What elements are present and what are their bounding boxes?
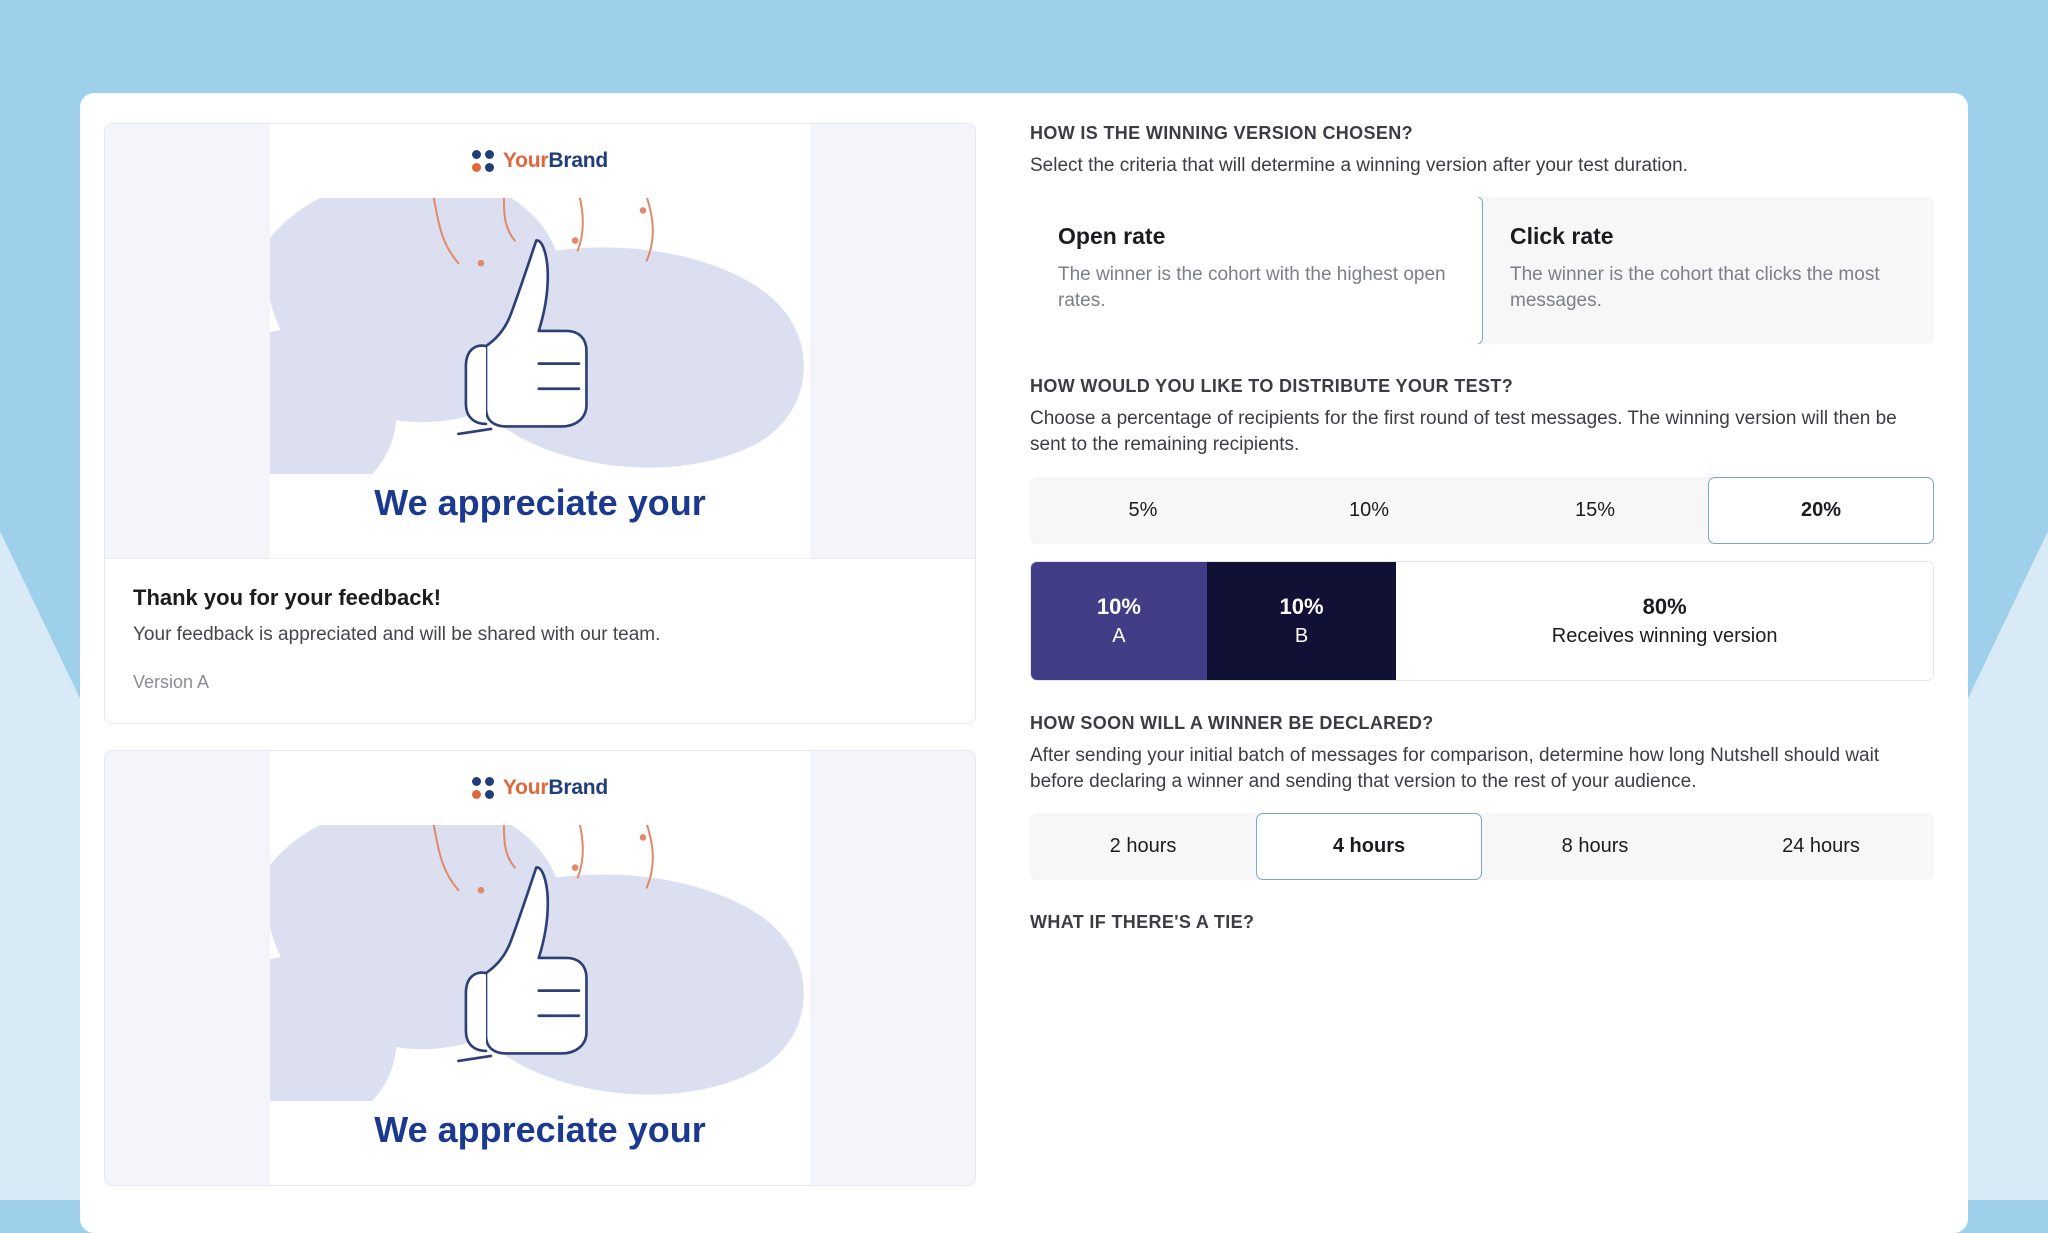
brand-name-second: Brand	[548, 149, 608, 172]
distribution-bar-remainder-percent: 80%	[1643, 594, 1687, 620]
distribution-bar-b-percent: 10%	[1280, 594, 1324, 620]
distribution-bar-b-label: B	[1295, 625, 1308, 648]
email-headline-a: We appreciate your	[270, 474, 810, 558]
criteria-option-open-rate-description: The winner is the cohort with the highes…	[1058, 262, 1454, 314]
winner-timing-option-4-hours[interactable]: 4 hours	[1256, 813, 1482, 880]
email-subtitle-a: Your feedback is appreciated and will be…	[133, 624, 947, 646]
section-winning-criteria: HOW IS THE WINNING VERSION CHOSEN? Selec…	[1030, 123, 1934, 344]
winner-timing-option-2-hours[interactable]: 2 hours	[1030, 813, 1256, 880]
distribution-option-10[interactable]: 10%	[1256, 477, 1482, 544]
email-title-a: Thank you for your feedback!	[133, 585, 947, 611]
distribution-bar-segment-a: 10% A	[1031, 562, 1207, 680]
email-canvas-b: YourBrand	[105, 751, 975, 1185]
thumbs-up-illustration-b	[270, 825, 810, 1101]
brand-logo-a: YourBrand	[472, 149, 608, 173]
brand-dots-icon	[472, 777, 494, 799]
email-preview-card-a[interactable]: YourBrand	[104, 123, 976, 724]
distribution-bar-segment-b: 10% B	[1207, 562, 1396, 680]
thumbs-up-icon	[270, 825, 810, 1101]
email-brand-bar-a: YourBrand	[270, 124, 810, 198]
criteria-option-open-rate[interactable]: Open rate The winner is the cohort with …	[1030, 197, 1483, 344]
email-canvas-a: YourBrand	[105, 124, 975, 558]
distribution-heading: HOW WOULD YOU LIKE TO DISTRIBUTE YOUR TE…	[1030, 376, 1934, 397]
winning-criteria-description: Select the criteria that will determine …	[1030, 153, 1934, 179]
distribution-option-20[interactable]: 20%	[1708, 477, 1934, 544]
email-brand-bar-b: YourBrand	[270, 751, 810, 825]
distribution-bar: 10% A 10% B 80% Receives winning version	[1030, 561, 1934, 681]
brand-name-second: Brand	[548, 776, 608, 799]
winning-criteria-heading: HOW IS THE WINNING VERSION CHOSEN?	[1030, 123, 1934, 144]
tie-heading: WHAT IF THERE'S A TIE?	[1030, 912, 1934, 933]
email-meta-a: Thank you for your feedback! Your feedba…	[105, 558, 975, 723]
email-preview-pane: YourBrand	[80, 93, 1000, 1233]
distribution-description: Choose a percentage of recipients for th…	[1030, 406, 1934, 458]
email-headline-b: We appreciate your	[270, 1101, 810, 1185]
winner-timing-heading: HOW SOON WILL A WINNER BE DECLARED?	[1030, 713, 1934, 734]
distribution-bar-a-percent: 10%	[1097, 594, 1141, 620]
section-tie: WHAT IF THERE'S A TIE?	[1030, 912, 1934, 933]
test-settings-pane: HOW IS THE WINNING VERSION CHOSEN? Selec…	[1000, 93, 1968, 1233]
criteria-option-click-rate-description: The winner is the cohort that clicks the…	[1510, 262, 1906, 314]
winning-criteria-options: Open rate The winner is the cohort with …	[1030, 197, 1934, 344]
distribution-option-15[interactable]: 15%	[1482, 477, 1708, 544]
brand-logo-b: YourBrand	[472, 776, 608, 800]
winner-timing-option-8-hours[interactable]: 8 hours	[1482, 813, 1708, 880]
email-version-label-a: Version A	[133, 672, 947, 693]
winner-timing-option-24-hours[interactable]: 24 hours	[1708, 813, 1934, 880]
brand-wordmark: YourBrand	[503, 776, 608, 800]
distribution-bar-remainder-label: Receives winning version	[1552, 625, 1778, 648]
brand-dots-icon	[472, 150, 494, 172]
brand-wordmark: YourBrand	[503, 149, 608, 173]
section-distribution: HOW WOULD YOU LIKE TO DISTRIBUTE YOUR TE…	[1030, 376, 1934, 680]
distribution-bar-a-label: A	[1112, 625, 1125, 648]
email-preview-card-b[interactable]: YourBrand	[104, 750, 976, 1186]
brand-name-first: Your	[503, 776, 548, 799]
criteria-option-click-rate-label: Click rate	[1510, 223, 1906, 250]
thumbs-up-icon	[270, 198, 810, 474]
distribution-bar-segment-remainder: 80% Receives winning version	[1396, 562, 1933, 680]
thumbs-up-illustration-a	[270, 198, 810, 474]
criteria-option-click-rate[interactable]: Click rate The winner is the cohort that…	[1482, 197, 1934, 344]
winner-timing-selector: 2 hours 4 hours 8 hours 24 hours	[1030, 813, 1934, 880]
distribution-percentage-selector: 5% 10% 15% 20%	[1030, 477, 1934, 544]
brand-name-first: Your	[503, 149, 548, 172]
criteria-option-open-rate-label: Open rate	[1058, 223, 1454, 250]
ab-test-settings-panel: YourBrand	[80, 93, 1968, 1233]
distribution-option-5[interactable]: 5%	[1030, 477, 1256, 544]
section-winner-timing: HOW SOON WILL A WINNER BE DECLARED? Afte…	[1030, 713, 1934, 880]
winner-timing-description: After sending your initial batch of mess…	[1030, 743, 1934, 795]
